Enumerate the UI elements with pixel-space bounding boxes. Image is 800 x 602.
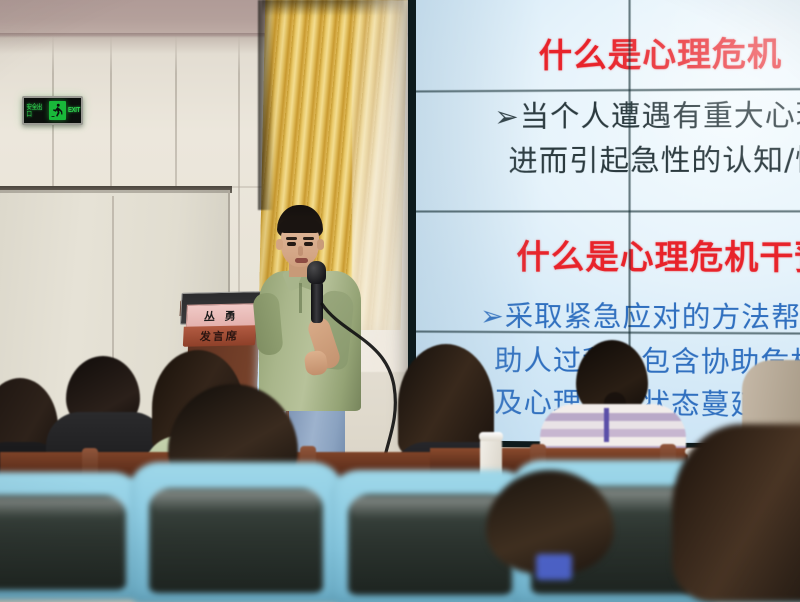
presenter-mouth	[295, 258, 308, 263]
lecture-hall-photo: 安全出口 EXIT 什么是心理危机 ➢当个人遭遇有重大心理影 进而引起急性的认知…	[0, 0, 800, 602]
presenter-eye-left	[287, 242, 296, 246]
podium-nameplate: 丛 勇 发言席	[183, 297, 258, 348]
presenter-left-arm	[252, 292, 283, 356]
running-man-icon	[49, 101, 66, 120]
slide-heading-what-is-psychological-crisis: 什么是心理危机	[539, 27, 782, 77]
nameplate-role-plate: 发言席	[183, 325, 256, 347]
presenter-ear-left	[276, 239, 283, 250]
audience-front-row	[0, 470, 800, 602]
exit-sign-english-label: EXIT	[68, 107, 80, 114]
presenter-eye-right	[304, 242, 313, 246]
emergency-exit-sign: 安全出口 EXIT	[22, 96, 83, 125]
presenter-eyebrow-left	[286, 237, 297, 240]
presenter-nose	[298, 246, 303, 256]
lanyard	[536, 554, 572, 580]
slide-heading-what-is-crisis-intervention: 什么是心理危机干预	[516, 230, 800, 279]
video-wall-bezel-horizontal	[416, 210, 800, 213]
nameplate-name-text: 丛 勇	[204, 308, 240, 325]
nameplate-role-text: 发言席	[199, 328, 239, 345]
exit-sign-chinese-label: 安全出口	[26, 104, 45, 118]
curtain-left-shadow	[258, 0, 274, 210]
microphone-head	[307, 261, 326, 284]
presenter-hair-fringe	[278, 219, 322, 233]
presenter-ear-right	[317, 239, 324, 250]
list-item	[672, 424, 800, 602]
presenter-eyebrow-right	[303, 237, 314, 240]
slide-body-line-1: ➢当个人遭遇有重大心理影	[494, 91, 800, 135]
slide-body-line-2: 进而引起急性的认知/情感	[508, 136, 800, 180]
